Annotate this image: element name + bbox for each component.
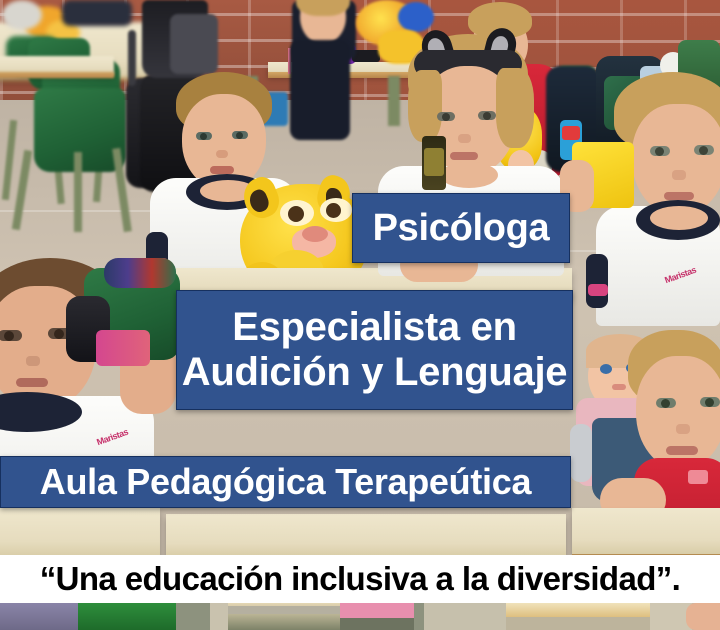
doll-arm-left xyxy=(570,424,592,482)
boy-right-mouth xyxy=(664,192,694,200)
boy-red-bottom-nose xyxy=(676,424,690,434)
backpack-colorful-left xyxy=(104,258,176,288)
table-leg xyxy=(388,76,400,126)
girl-center-mouth xyxy=(450,152,478,160)
quote-strip: “Una educación inclusiva a la diversidad… xyxy=(0,555,720,603)
bag-handle xyxy=(128,30,136,86)
bottom-strip-shadow xyxy=(506,617,656,630)
bottle-label xyxy=(562,126,580,140)
bottom-strip-table-edge xyxy=(228,606,340,614)
boy-right-sleeve-pink xyxy=(588,284,608,296)
jacket-hanging-2 xyxy=(170,14,218,74)
boy-right-pupil-r xyxy=(699,146,708,155)
lion-plush-pupil-right xyxy=(326,203,341,218)
table-edge xyxy=(0,72,114,78)
bottom-strip-under xyxy=(340,618,418,630)
boy-lion-pupil-l xyxy=(200,133,207,140)
boy-red-bottom-mouth xyxy=(666,446,698,455)
banner-especialista-line2: Audición y Lenguaje xyxy=(182,350,567,395)
pencil-case-dark xyxy=(352,50,380,62)
lion-plush-pupil-left xyxy=(288,206,304,222)
bottom-strip-green-chair xyxy=(78,603,178,630)
drink-can-label xyxy=(424,148,444,176)
girl-left-pupil-r xyxy=(54,329,64,339)
toy-ball-blue xyxy=(398,2,434,32)
girl-center-neck xyxy=(440,162,498,188)
doll-eye-l xyxy=(600,364,612,374)
doll-mouth xyxy=(612,384,626,390)
boy-red-bottom-pupil-l xyxy=(661,399,670,408)
lion-plush-nose xyxy=(302,226,328,242)
bag-pink xyxy=(96,330,150,366)
banner-aula-text: Aula Pedagógica Terapeútica xyxy=(40,461,531,503)
boy-right-nose xyxy=(672,170,686,180)
girl-center-pupil-l xyxy=(442,113,450,121)
kid-hand-blur xyxy=(2,0,42,30)
boy-red-bottom-logo xyxy=(688,470,708,484)
banner-especialista-line1: Especialista en xyxy=(232,305,517,350)
bottom-strip-leg xyxy=(176,603,212,630)
boy-lion-mouth xyxy=(210,166,234,174)
banner-psicologa-text: Psicóloga xyxy=(373,207,550,250)
bottom-strip-floor xyxy=(210,603,230,630)
child-body-dark xyxy=(290,40,350,140)
bottom-strip-arm xyxy=(686,603,720,630)
boy-right-pupil-l xyxy=(655,147,664,156)
girl-left-mouth xyxy=(16,378,48,387)
girl-center-hair-right xyxy=(496,68,534,148)
banner-aula: Aula Pedagógica Terapeútica xyxy=(0,456,571,508)
girl-center-nose xyxy=(458,134,471,143)
table-bottom-center xyxy=(166,514,566,556)
poster-image: Maristas xyxy=(0,0,720,630)
girl-center-hair-left xyxy=(408,70,442,142)
girl-left-nose xyxy=(26,356,40,366)
boy-lion-nose xyxy=(216,150,228,158)
kid-dark-top-blur xyxy=(62,0,132,26)
banner-especialista: Especialista en Audición y Lenguaje xyxy=(176,290,573,410)
bottom-strip-purple xyxy=(0,603,82,630)
quote-text: “Una educación inclusiva a la diversidad… xyxy=(40,560,681,598)
boy-right-neck xyxy=(650,206,708,230)
boy-red-bottom-pupil-r xyxy=(705,398,714,407)
table-bottom-right xyxy=(572,508,720,554)
table-bottom-left xyxy=(0,508,160,556)
girl-left-pupil-l xyxy=(4,331,14,341)
boy-lion-pupil-r xyxy=(236,132,243,139)
banner-psicologa: Psicóloga xyxy=(352,193,570,263)
boy-right-sleeve-trim xyxy=(586,254,608,308)
girl-center-pupil-r xyxy=(483,112,491,120)
bottom-strip-floor-2 xyxy=(424,603,512,630)
chair-leg xyxy=(74,152,82,232)
